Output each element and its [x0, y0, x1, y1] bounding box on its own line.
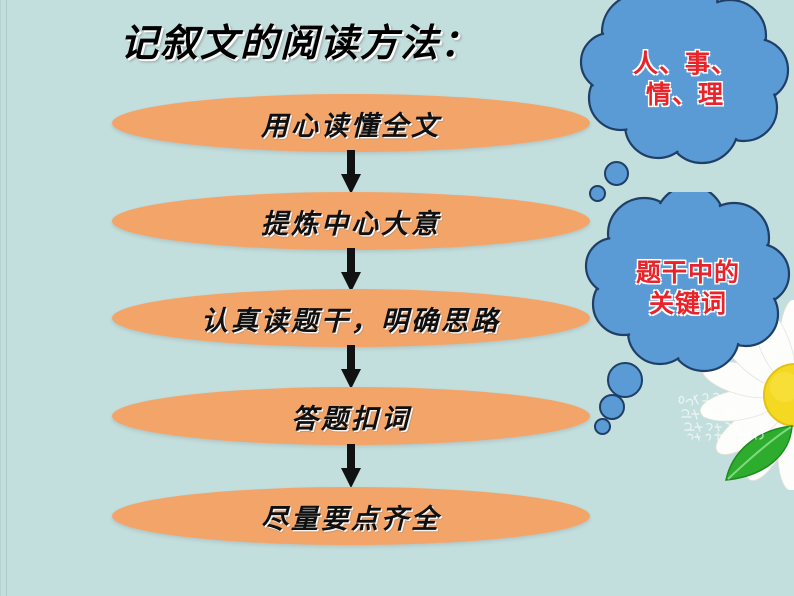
arrow-down-3-icon — [341, 345, 361, 389]
bubble-2-line-1: 题干中的 — [636, 258, 740, 289]
bubble-1-line-2: 情、理 — [646, 80, 724, 111]
slide-canvas: 人、事、 情、理 — [0, 0, 794, 596]
flow-step-1[interactable]: 用心读懂全文 — [112, 94, 590, 152]
thought-tail-circle-2c — [594, 418, 611, 435]
arrow-down-4-icon — [341, 444, 361, 488]
thought-bubble-1-text: 人、事、 情、理 — [574, 0, 794, 183]
page-title: 记叙文的阅读方法： — [120, 16, 540, 72]
arrow-down-1-icon — [341, 150, 361, 194]
flow-step-3-label: 认真读题干，明确思路 — [112, 289, 590, 347]
left-edge-line-inner — [6, 0, 7, 596]
flow-step-3[interactable]: 认真读题干，明确思路 — [112, 289, 590, 347]
thought-bubble-keywords: 题干中的 关键词 — [582, 192, 794, 377]
thought-bubble-2-text: 题干中的 关键词 — [582, 192, 794, 381]
thought-bubble-people-events: 人、事、 情、理 — [574, 0, 794, 167]
bubble-2-line-2: 关键词 — [649, 289, 727, 320]
left-edge-line-outer — [0, 0, 1, 596]
bubble-1-line-1: 人、事、 — [633, 49, 737, 80]
flow-step-5-label: 尽量要点齐全 — [112, 487, 590, 545]
flow-step-5[interactable]: 尽量要点齐全 — [112, 487, 590, 545]
arrow-down-2-icon — [341, 248, 361, 292]
flow-step-4[interactable]: 答题扣词 — [112, 387, 590, 445]
thought-tail-circle-2a — [607, 362, 643, 398]
flow-step-2-label: 提炼中心大意 — [112, 192, 590, 250]
flow-step-4-label: 答题扣词 — [112, 387, 590, 445]
handwritten-script-watermark — [676, 386, 786, 442]
green-leaf-icon — [722, 424, 794, 484]
flow-step-1-label: 用心读懂全文 — [112, 94, 590, 152]
flow-step-2[interactable]: 提炼中心大意 — [112, 192, 590, 250]
thought-tail-circle-1a — [604, 161, 629, 186]
thought-tail-circle-2b — [599, 394, 625, 420]
